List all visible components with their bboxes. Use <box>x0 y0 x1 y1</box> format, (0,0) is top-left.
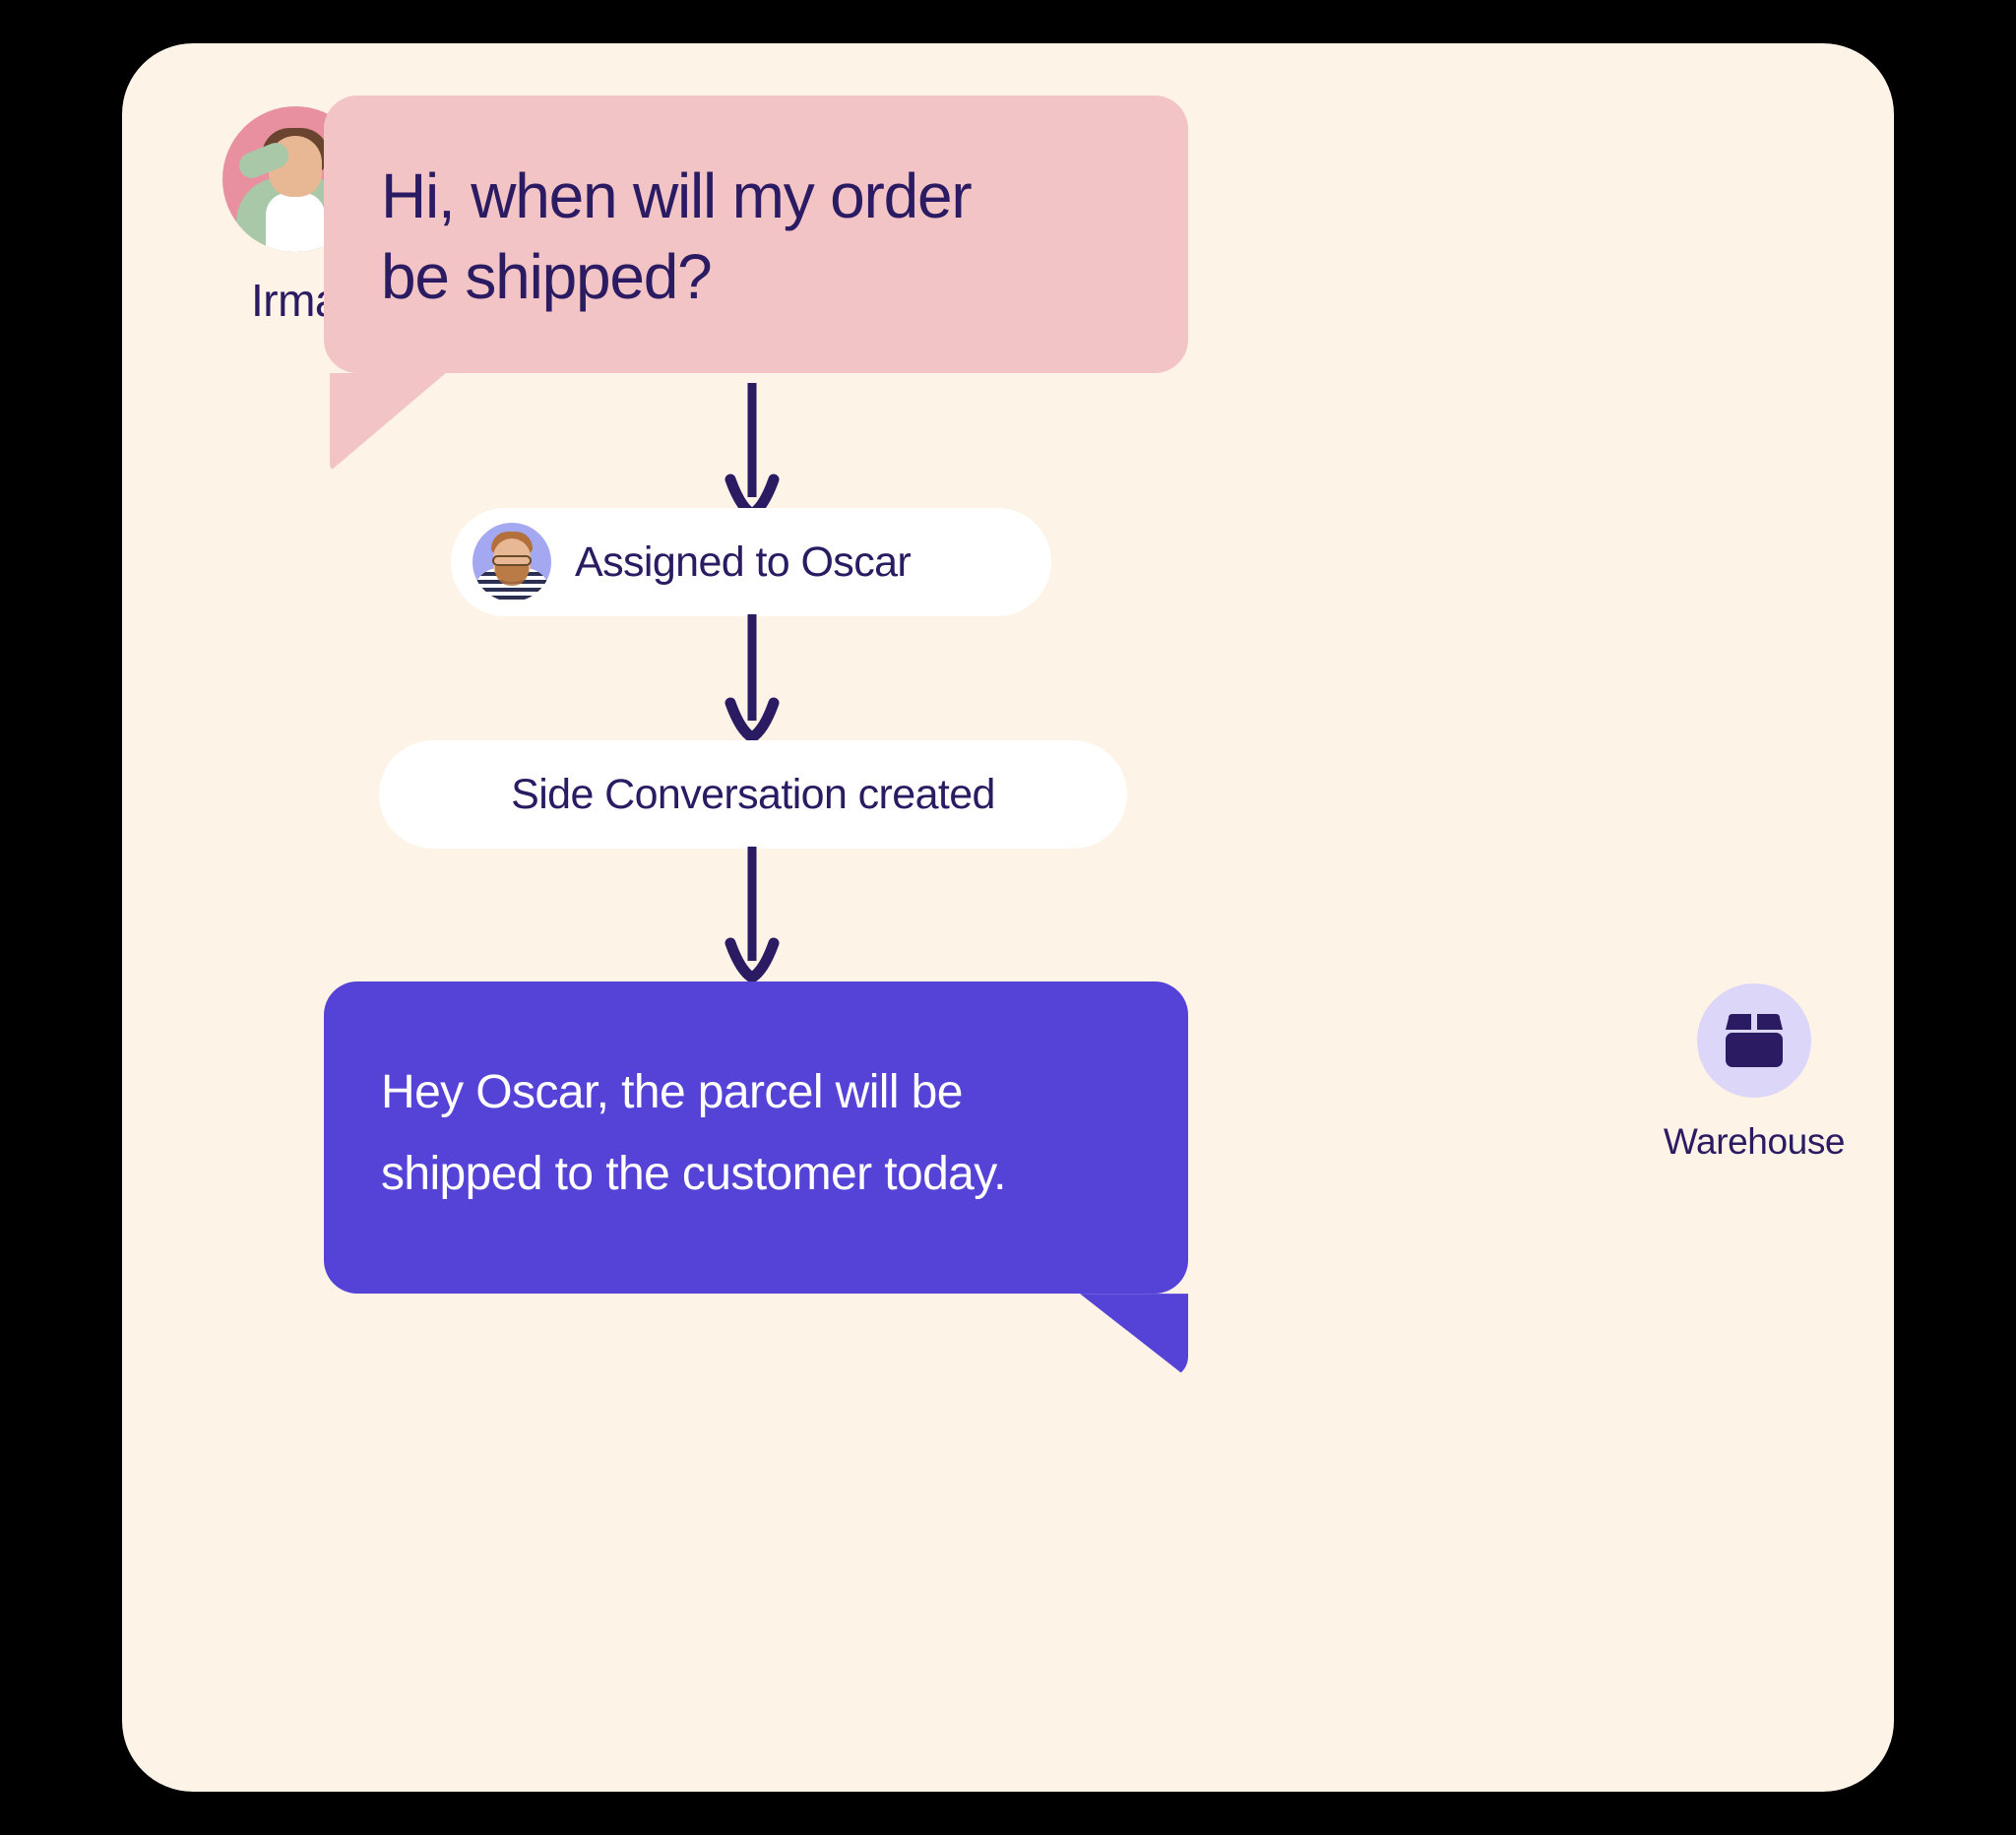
warehouse-avatar <box>1697 983 1811 1098</box>
outgoing-message-line-1: Hey Oscar, the parcel will be <box>381 1052 1129 1134</box>
conversation-flow-card: Irma Hi, when will my order be shipped? <box>122 43 1894 1792</box>
incoming-message-bubble[interactable]: Hi, when will my order be shipped? <box>324 95 1188 373</box>
outgoing-message-tail <box>1080 1294 1188 1378</box>
avatar-irma-shirt <box>266 193 325 252</box>
incoming-message-line-1: Hi, when will my order <box>381 157 1131 237</box>
outgoing-message-bubble[interactable]: Hey Oscar, the parcel will be shipped to… <box>324 981 1188 1294</box>
arrow-down-icon-3 <box>713 847 791 984</box>
glasses-icon <box>492 555 532 566</box>
warehouse-label: Warehouse <box>1626 1121 1882 1163</box>
arrow-down-icon-1 <box>713 383 791 521</box>
avatar-oscar <box>472 523 551 601</box>
screenshot-stage: Irma Hi, when will my order be shipped? <box>0 0 2016 1835</box>
arrow-down-icon-2 <box>713 614 791 744</box>
incoming-message-tail <box>330 373 446 472</box>
incoming-message-group: Hi, when will my order be shipped? <box>324 95 1188 373</box>
event-pill-side-conversation[interactable]: Side Conversation created <box>379 740 1127 849</box>
package-box-icon <box>1724 1012 1785 1069</box>
event-pill-assigned[interactable]: Assigned to Oscar <box>451 508 1051 616</box>
outgoing-message-line-2: shipped to the customer today. <box>381 1134 1129 1216</box>
event-pill-assigned-label: Assigned to Oscar <box>575 538 911 587</box>
event-pill-side-conversation-label: Side Conversation created <box>511 771 995 819</box>
warehouse-identity: Warehouse <box>1626 983 1882 1163</box>
outgoing-message-group: Hey Oscar, the parcel will be shipped to… <box>324 981 1188 1294</box>
incoming-message-line-2: be shipped? <box>381 237 1131 318</box>
